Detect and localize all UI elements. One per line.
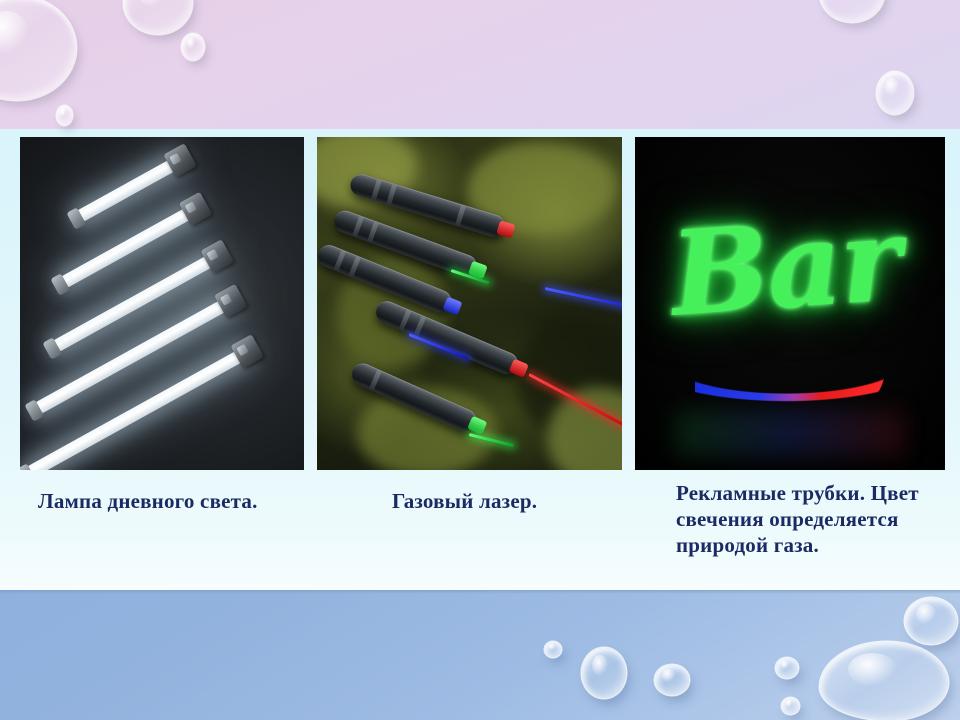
water-droplet <box>545 642 561 657</box>
caption-gas-laser: Газовый лазер. <box>392 488 537 514</box>
caption-fluorescent-lamp: Лампа дневного света. <box>38 488 258 514</box>
background-band-top <box>0 0 960 132</box>
water-droplet <box>582 648 626 698</box>
neon-floor-glow <box>675 410 905 456</box>
gas-laser-photo <box>317 137 622 470</box>
background-band-bottom <box>0 590 960 720</box>
water-droplet <box>776 658 798 678</box>
neon-bar-sign-photo: Bar <box>635 137 945 470</box>
water-droplet <box>655 665 689 695</box>
water-droplet <box>782 698 799 714</box>
neon-text: Bar <box>667 191 904 343</box>
slide-canvas: Bar Лампа дневного света. Газовый лазер.… <box>0 0 960 720</box>
caption-advertising-tubes: Рекламные трубки. Цвет свечения определя… <box>676 480 951 558</box>
laser-beam-blue <box>545 287 622 312</box>
water-droplet <box>820 642 948 720</box>
water-droplet <box>905 598 957 644</box>
neon-underline-swoosh <box>695 369 885 412</box>
fluorescent-lamp-photo <box>20 137 304 470</box>
